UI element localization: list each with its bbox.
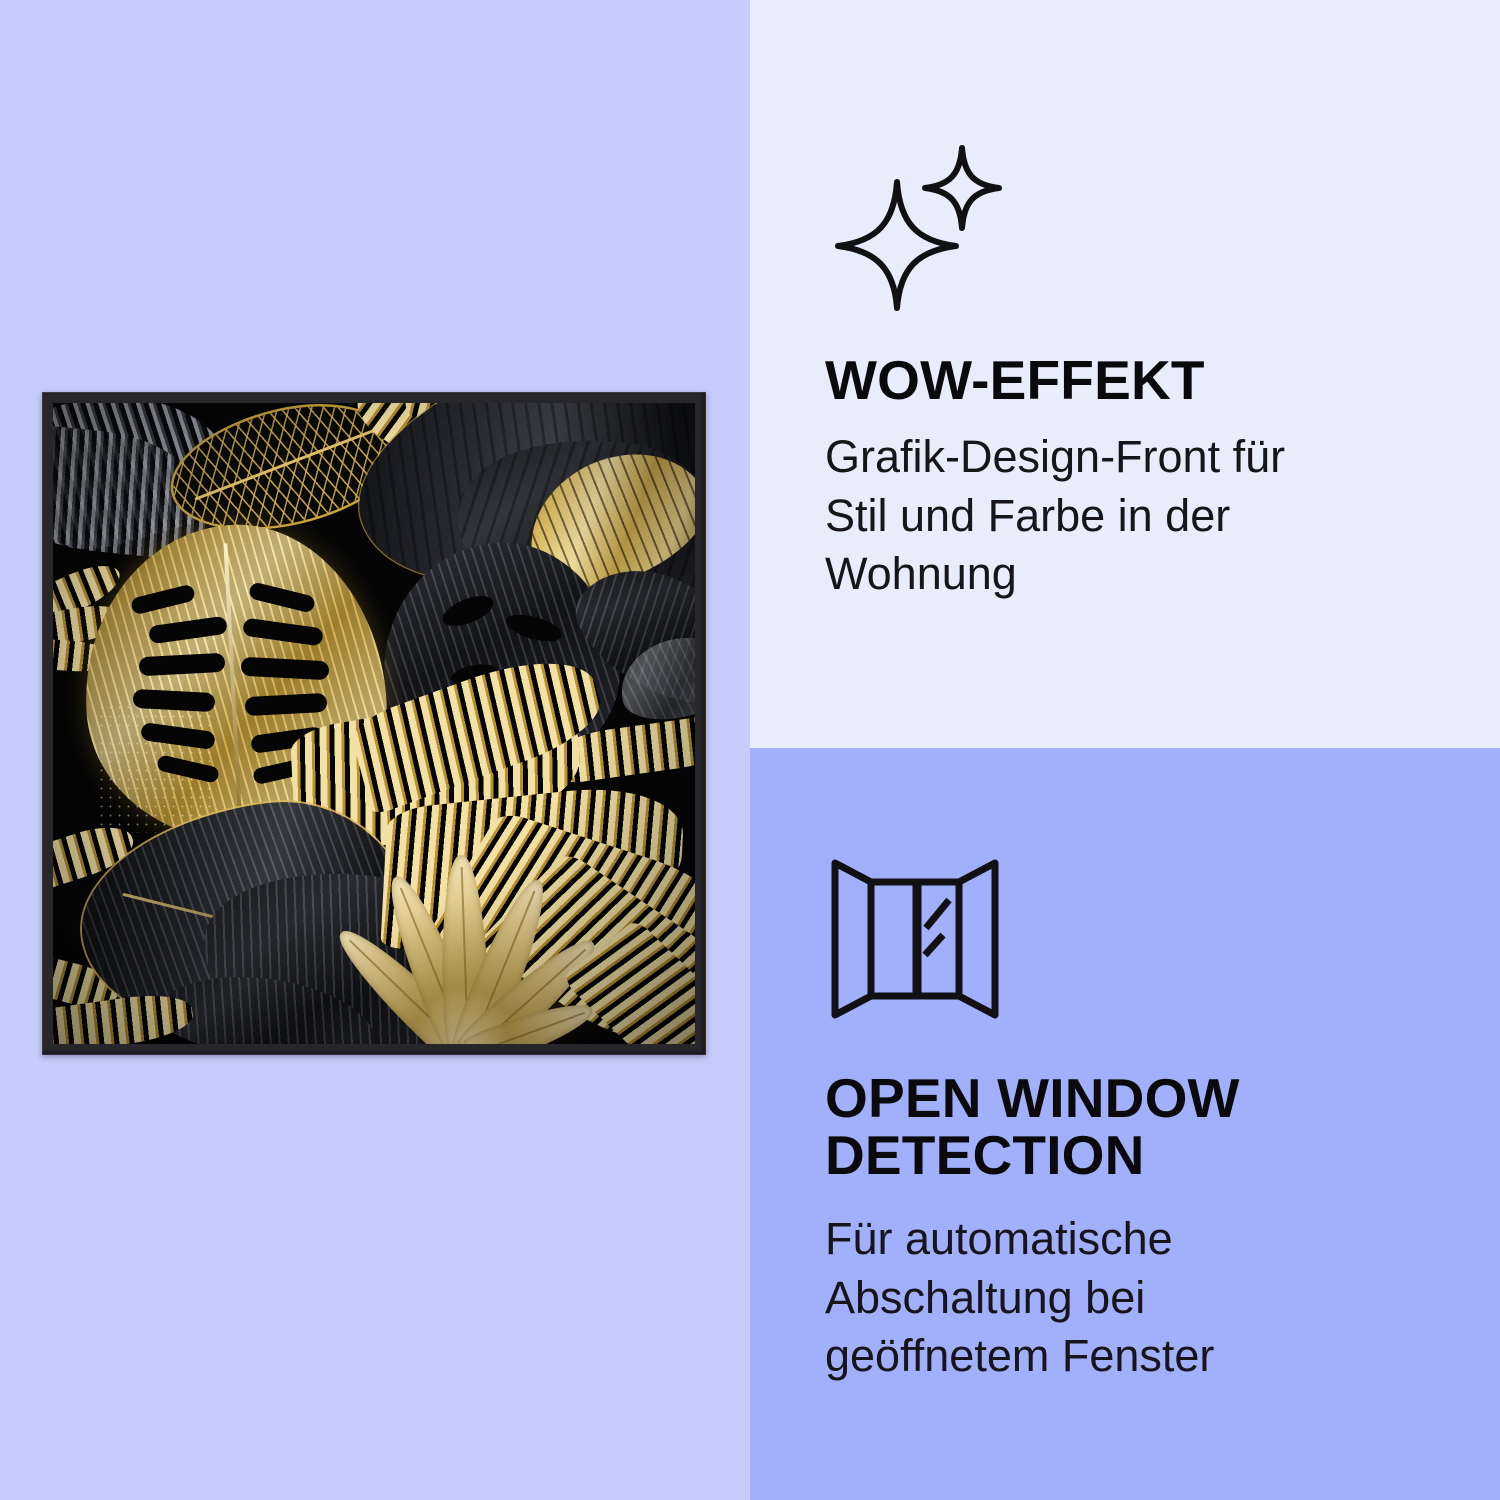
infographic-canvas: WOW-EFFEKT Grafik-Design-Front für Stil … — [0, 0, 1500, 1500]
feature-description-open-window: Für automatische Abschaltung bei geöffne… — [825, 1210, 1295, 1386]
gold-maple-leaf — [353, 855, 583, 1044]
feature-description-wow: Grafik-Design-Front für Stil und Farbe i… — [825, 428, 1295, 604]
open-window-icon — [825, 855, 1005, 1028]
sparkle-icon — [825, 140, 1015, 320]
artwork-canvas — [53, 403, 695, 1044]
feature-title-wow: WOW-EFFEKT — [825, 352, 1205, 409]
feature-title-open-window: OPEN WINDOW DETECTION — [825, 1070, 1345, 1184]
framed-artwork — [42, 392, 706, 1055]
